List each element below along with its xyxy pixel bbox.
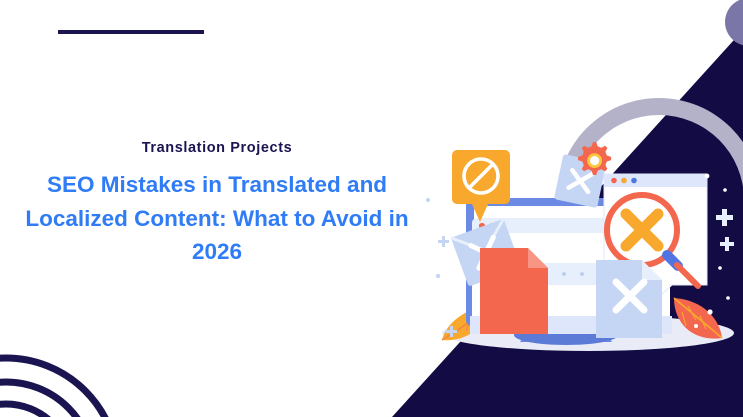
seo-error-illustration [420,130,743,370]
purple-grey-circle [725,0,743,46]
error-document-coral [480,248,548,334]
category-label: Translation Projects [0,140,434,157]
error-document-blue [596,260,662,338]
headline-block: Translation Projects SEO Mistakes in Tra… [0,140,434,268]
navy-rule [58,30,204,34]
sparkle-decorations [426,198,457,337]
seo-blog-banner: Translation Projects SEO Mistakes in Tra… [0,0,743,417]
page-title: SEO Mistakes in Translated and Localized… [0,168,434,268]
gear-icon [578,142,611,175]
concentric-arcs [0,318,148,417]
